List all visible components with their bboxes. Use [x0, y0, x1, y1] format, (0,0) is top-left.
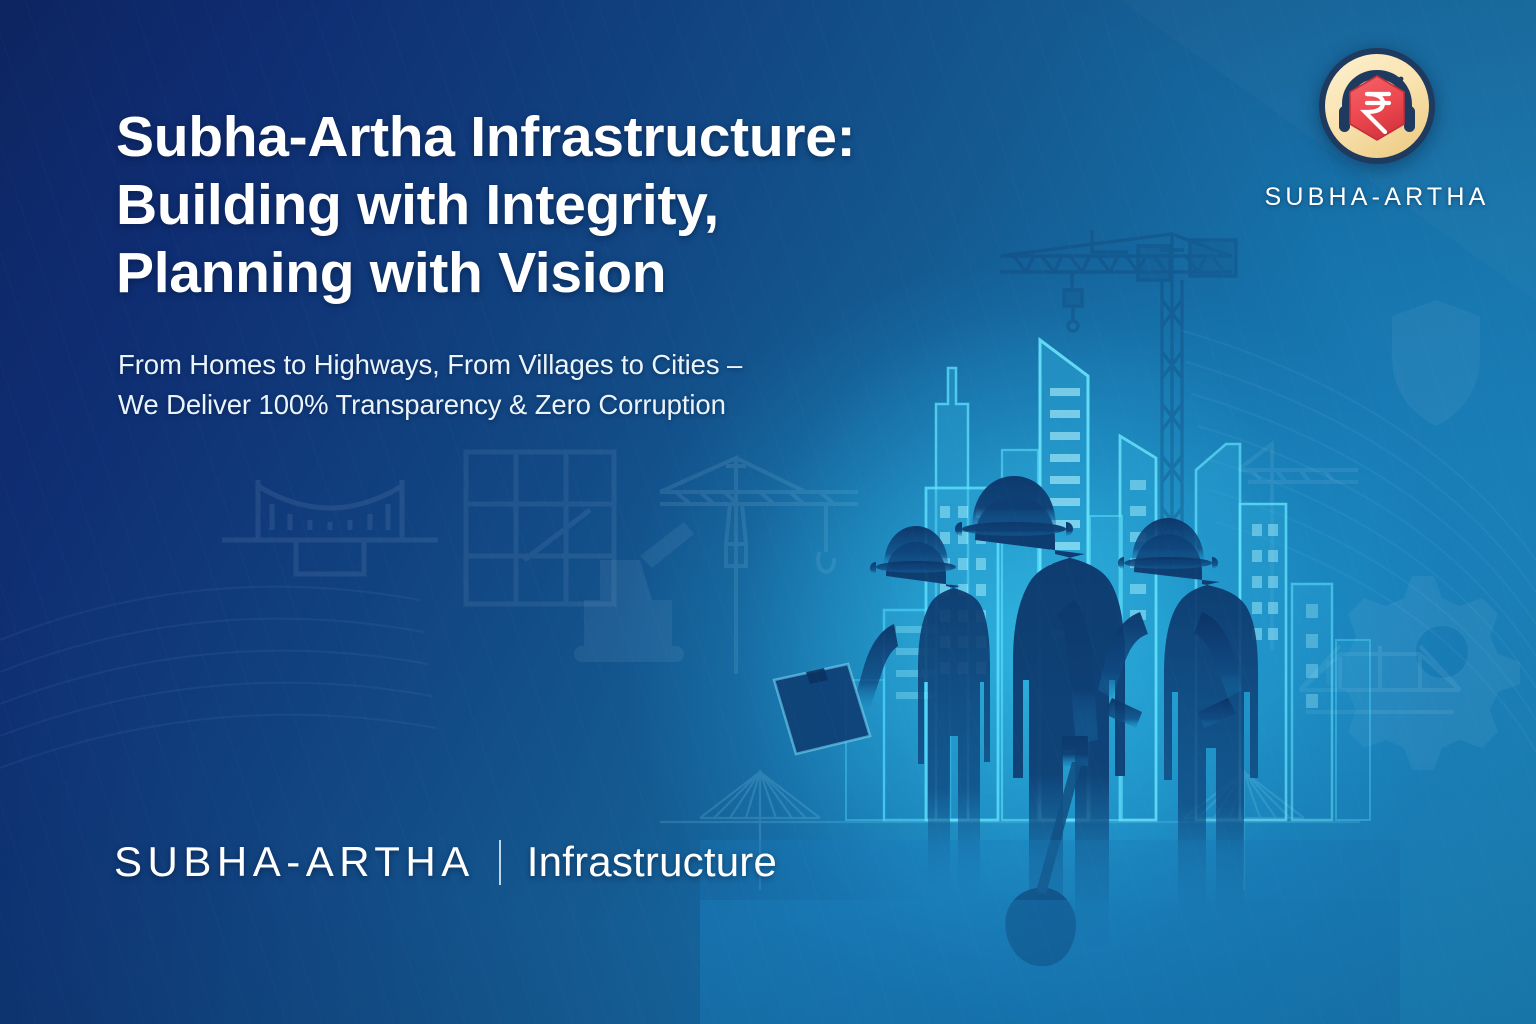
page-title: Subha-Artha Infrastructure: Building wit…	[116, 104, 1096, 307]
shield-icon	[1392, 300, 1480, 426]
worker-right-hands-on-hips	[1098, 518, 1258, 920]
footer-divider	[499, 840, 501, 885]
excavator-icon	[574, 522, 694, 662]
contour-arcs-left	[0, 587, 436, 768]
footer-brand-name: SUBHA-ARTHA	[114, 838, 475, 886]
logo-brand-text: SUBHA-ARTHA	[1265, 183, 1490, 212]
tower-crane-icon-left	[660, 458, 858, 674]
page-subtitle: From Homes to Highways, From Villages to…	[118, 345, 948, 424]
clipboard-icon	[774, 664, 870, 754]
footer-division-name: Infrastructure	[527, 838, 777, 886]
promotional-banner: SUBHA-ARTHA Subha-Artha Infrastructure: …	[0, 0, 1536, 1024]
worker-left-with-clipboard	[854, 526, 990, 896]
contour-arcs-right	[1180, 330, 1536, 752]
headphone-rupee-coin-icon	[1315, 44, 1439, 168]
truss-bridge-icon	[1300, 646, 1460, 712]
shovel-icon	[1005, 762, 1082, 966]
gear-icon	[1326, 576, 1520, 770]
tower-crane-icon-right	[1238, 444, 1358, 650]
footer-wordmark: SUBHA-ARTHA Infrastructure	[114, 838, 777, 886]
brand-logo[interactable]: SUBHA-ARTHA	[1267, 44, 1487, 212]
blueprint-grid-icon	[466, 452, 614, 604]
worker-center-with-shovel	[955, 476, 1125, 946]
suspension-bridge-icon	[222, 480, 438, 574]
